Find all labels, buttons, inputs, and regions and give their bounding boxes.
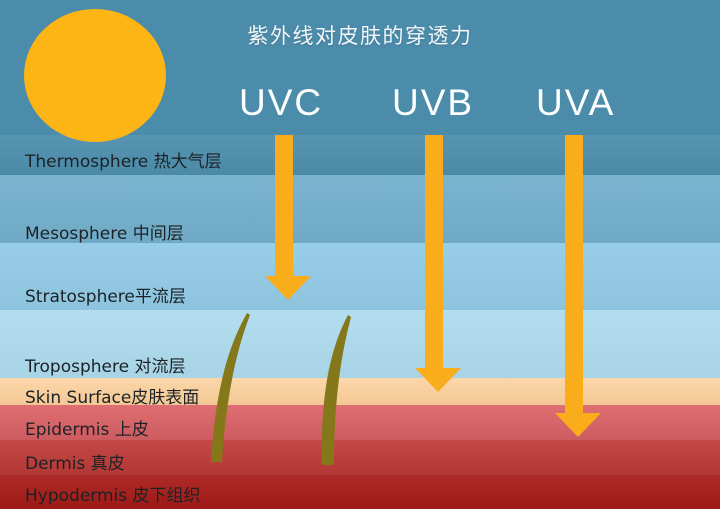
layer-label-troposphere: Troposphere 对流层 <box>25 352 185 377</box>
layer-label-skin-surface: Skin Surface皮肤表面 <box>25 383 199 408</box>
uv-penetration-infographic: 紫外线对皮肤的穿透力 UVC UVB UVA Thermosphere 热大气层… <box>0 0 720 509</box>
layer-label-mesosphere: Mesosphere 中间层 <box>25 219 184 244</box>
layer-label-hypodermis: Hypodermis 皮下组织 <box>25 481 201 506</box>
layer-label-stratosphere: Stratosphere平流层 <box>25 282 186 307</box>
hair-strand-icon <box>322 315 351 465</box>
hair-strand-icon <box>211 313 250 462</box>
layer-label-epidermis: Epidermis 上皮 <box>25 415 149 440</box>
layer-label-thermosphere: Thermosphere 热大气层 <box>25 147 222 172</box>
layer-label-dermis: Dermis 真皮 <box>25 449 125 474</box>
